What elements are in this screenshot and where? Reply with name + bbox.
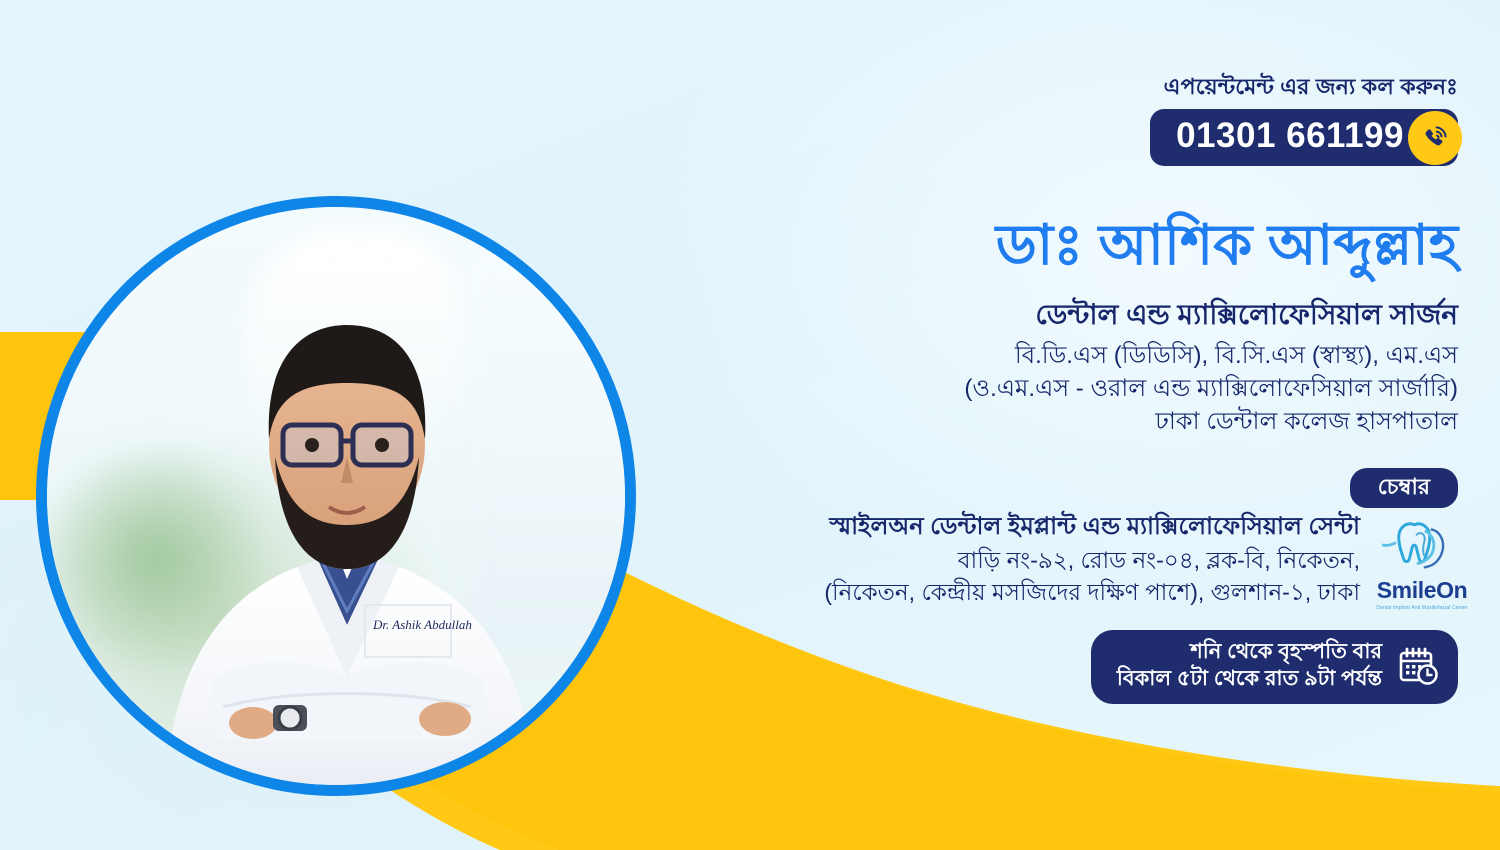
hours-text: শনি থেকে বৃহস্পতি বার বিকাল ৫টা থেকে রাত… — [1117, 639, 1382, 693]
chamber-address: বাড়ি নং-৯২, রোড নং-০৪, ব্লক-বি, নিকেতন,… — [660, 544, 1360, 608]
qualification-line: বি.ডি.এস (ডিডিসি), বি.সি.এস (স্বাস্থ্য),… — [698, 339, 1458, 372]
dental-clinic-banner: Dr. Ashik Abdullah এপয়েন্টমেন্ট এর জন্য… — [0, 0, 1500, 850]
doctor-portrait-illustration: Dr. Ashik Abdullah — [47, 207, 625, 785]
hours-line: শনি থেকে বৃহস্পতি বার — [1117, 639, 1382, 666]
calendar-clock-icon — [1396, 644, 1440, 688]
phone-row[interactable]: 01301 661199 — [1150, 109, 1458, 165]
photo-inner-background: Dr. Ashik Abdullah — [47, 207, 625, 785]
chamber-details: স্মাইলঅন ডেন্টাল ইমপ্লান্ট এন্ড ম্যাক্সি… — [660, 511, 1360, 609]
doctor-qualifications: বি.ডি.এস (ডিডিসি), বি.সি.এস (স্বাস্থ্য),… — [698, 339, 1458, 438]
content-column: এপয়েন্টমেন্ট এর জন্য কল করুনঃ 01301 661… — [640, 0, 1500, 850]
address-line: (নিকেতন, কেন্দ্রীয় মসজিদের দক্ষিণ পাশে)… — [660, 576, 1360, 608]
chamber-name: স্মাইলঅন ডেন্টাল ইমপ্লান্ট এন্ড ম্যাক্সি… — [660, 511, 1360, 542]
qualification-line: (ও.এম.এস - ওরাল এন্ড ম্যাক্সিলোফেসিয়াল … — [698, 372, 1458, 405]
photo-ring-border: Dr. Ashik Abdullah — [36, 196, 636, 796]
qualification-line: ঢাকা ডেন্টাল কলেজ হাসপাতাল — [698, 405, 1458, 438]
doctor-photo-circle: Dr. Ashik Abdullah — [36, 196, 636, 796]
appointment-label: এপয়েন্টমেন্ট এর জন্য কল করুনঃ — [1150, 74, 1458, 100]
doctor-name: ডাঃ আশিক আব্দুল্লাহ — [758, 212, 1458, 278]
appointment-block: এপয়েন্টমেন্ট এর জন্য কল করুনঃ 01301 661… — [1150, 74, 1458, 166]
phone-call-icon[interactable] — [1408, 111, 1462, 165]
coat-embroidery-text: Dr. Ashik Abdullah — [372, 617, 472, 632]
doctor-role: ডেন্টাল এন্ড ম্যাক্সিলোফেসিয়াল সার্জন — [758, 297, 1458, 333]
chamber-badge: চেম্বার — [1350, 468, 1458, 508]
tooth-face-logo-icon — [1372, 516, 1472, 578]
logo-tagline: Dental Implant And Maxillofacial Center — [1366, 605, 1478, 611]
address-line: বাড়ি নং-৯২, রোড নং-০৪, ব্লক-বি, নিকেতন, — [660, 544, 1360, 576]
smileon-logo: SmileOn Dental Implant And Maxillofacial… — [1366, 516, 1478, 612]
opening-hours-badge: শনি থেকে বৃহস্পতি বার বিকাল ৫টা থেকে রাত… — [1091, 630, 1458, 704]
logo-wordmark: SmileOn — [1366, 579, 1478, 602]
hours-line: বিকাল ৫টা থেকে রাত ৯টা পর্যন্ত — [1117, 666, 1382, 693]
